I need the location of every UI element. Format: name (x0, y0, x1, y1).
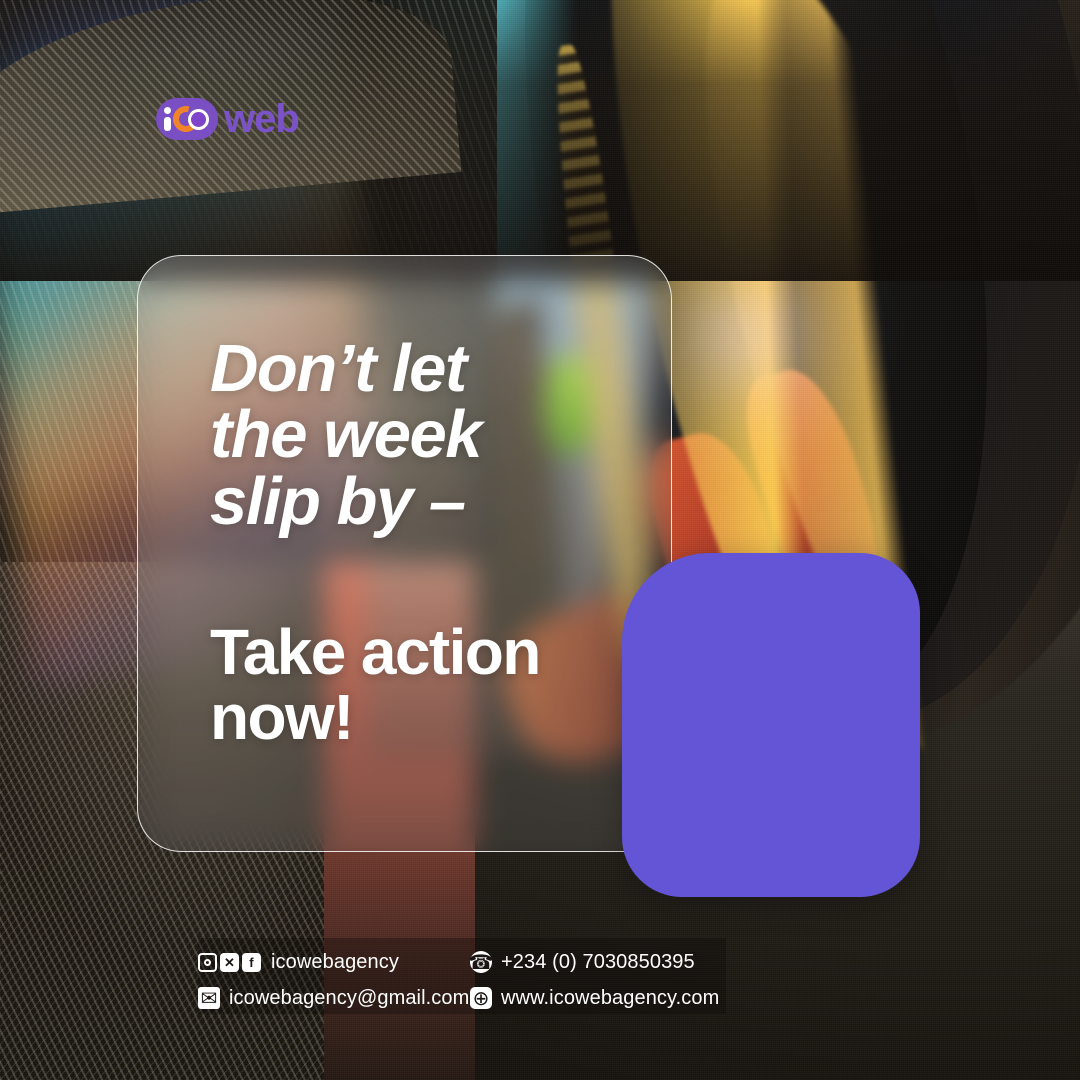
social-handle-text: icowebagency (271, 951, 399, 974)
footer-row-top: ✕ f icowebagency ☎ +234 (0) 7030850395 (198, 944, 838, 980)
purple-accent-block (622, 553, 920, 897)
headline-text: Don’t let the week slip by – (210, 336, 680, 535)
email-text: icowebagency@gmail.com (229, 987, 469, 1010)
website-text: www.icowebagency.com (501, 987, 719, 1010)
brand-logo[interactable]: web (156, 98, 299, 140)
phone-icon: ☎ (470, 951, 492, 973)
footer-contact-bar: ✕ f icowebagency ☎ +234 (0) 7030850395 ✉… (198, 944, 838, 1016)
mail-icon: ✉ (198, 987, 220, 1009)
logo-i-stem (164, 117, 171, 131)
footer-phone-group[interactable]: ☎ +234 (0) 7030850395 (470, 951, 695, 974)
subheadline-cta-text: Take action now! (210, 620, 680, 751)
social-media-poster: web Don’t let the week slip by – Take ac… (0, 0, 1080, 1080)
logo-wordmark: web (224, 99, 299, 139)
footer-email-group[interactable]: ✉ icowebagency@gmail.com (198, 987, 470, 1010)
social-icons: ✕ f (198, 953, 261, 972)
phone-number-text: +234 (0) 7030850395 (501, 951, 695, 974)
instagram-icon[interactable] (198, 953, 217, 972)
ico-circles-logo-icon (156, 98, 218, 140)
footer-website-group[interactable]: ⊕ www.icowebagency.com (470, 987, 719, 1010)
logo-i-dot (164, 107, 171, 114)
facebook-icon[interactable]: f (242, 953, 261, 972)
x-twitter-icon[interactable]: ✕ (220, 953, 239, 972)
footer-row-bottom: ✉ icowebagency@gmail.com ⊕ www.icowebage… (198, 980, 838, 1016)
footer-social-group[interactable]: ✕ f icowebagency (198, 951, 470, 974)
globe-icon: ⊕ (470, 987, 492, 1009)
logo-purple-circle-icon (188, 109, 209, 130)
